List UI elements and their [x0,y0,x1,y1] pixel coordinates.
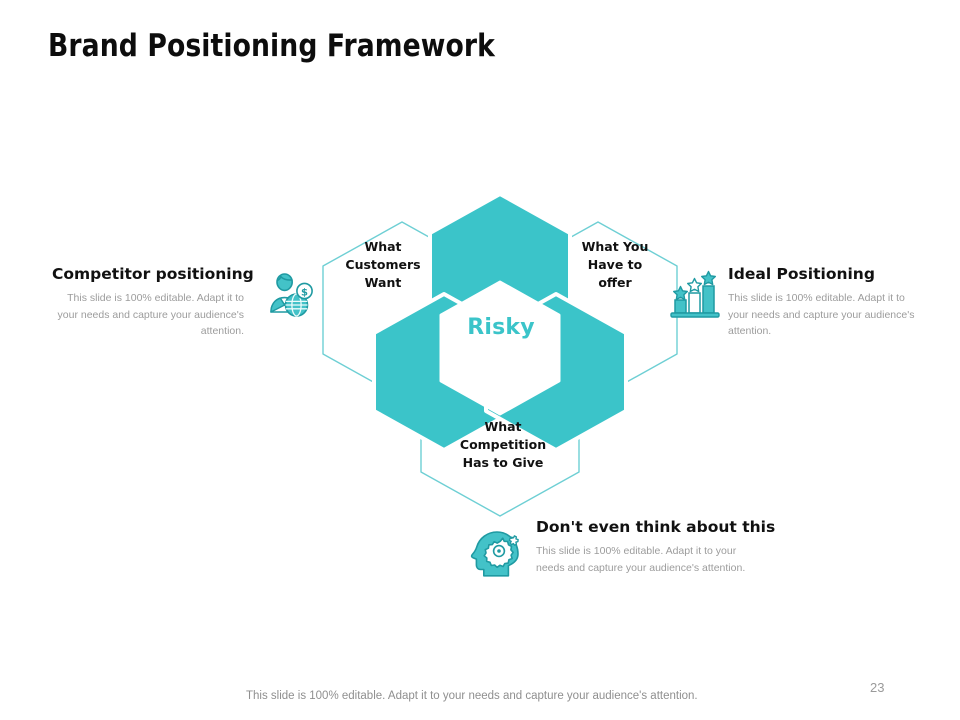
person-globe-dollar-icon: $ [258,266,316,324]
head-gears-icon [468,524,526,582]
hexagon-label-competition: What Competition Has to Give [428,418,578,472]
footer-note: This slide is 100% editable. Adapt it to… [246,690,698,702]
competitor-positioning-heading: Competitor positioning [52,265,244,284]
slide-canvas: Brand Positioning Framework What Custome… [0,0,960,720]
bar-chart-stars-icon [666,266,724,324]
brand-positioning-venn-diagram: What Customers Want What You Have to off… [310,160,690,510]
dont-even-think-heading: Don't even think about this [536,518,752,537]
page-title: Brand Positioning Framework [48,28,495,64]
ideal-positioning-body: This slide is 100% editable. Adapt it to… [728,290,924,339]
text-block-ideal-positioning: Ideal Positioning This slide is 100% edi… [728,265,924,339]
svg-text:$: $ [301,287,308,298]
ideal-positioning-heading: Ideal Positioning [728,265,924,284]
text-block-competitor-positioning: Competitor positioning This slide is 100… [52,265,244,339]
center-label-risky: Risky [416,312,586,344]
hexagon-label-your-offer: What You Have to offer [556,238,674,292]
text-block-dont-even-think: Don't even think about this This slide i… [536,518,752,576]
dont-even-think-body: This slide is 100% editable. Adapt it to… [536,543,752,576]
hexagon-label-customers: What Customers Want [328,238,438,292]
competitor-positioning-body: This slide is 100% editable. Adapt it to… [52,290,244,339]
page-number: 23 [870,680,884,695]
